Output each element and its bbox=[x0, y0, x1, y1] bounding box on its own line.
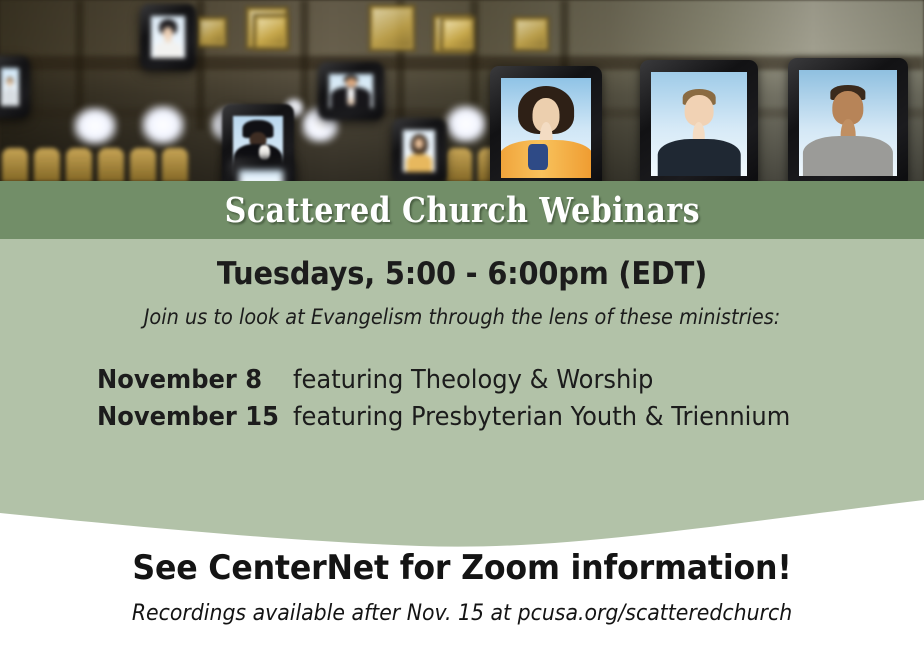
window-glow bbox=[444, 104, 488, 144]
pew-top bbox=[98, 148, 124, 182]
wall-panel bbox=[253, 14, 289, 50]
wall-panel bbox=[440, 16, 476, 52]
tablet-person-left-edge bbox=[0, 56, 30, 118]
pew-top bbox=[2, 148, 28, 182]
poster-title-band: Scattered Church Webinars bbox=[0, 181, 924, 239]
footer-note: Recordings available after Nov. 15 at pc… bbox=[32, 601, 891, 626]
wall-panel bbox=[368, 4, 416, 52]
wall-panel bbox=[196, 16, 228, 48]
pew-top bbox=[446, 148, 472, 182]
tablet-man-suit bbox=[318, 62, 384, 120]
tablet-woman-orange bbox=[490, 66, 602, 182]
page-title: Scattered Church Webinars bbox=[224, 190, 699, 231]
poster-footer: See CenterNet for Zoom information! Reco… bbox=[0, 548, 924, 626]
session-date: November 8 bbox=[97, 365, 279, 395]
pew-top bbox=[66, 148, 92, 182]
wooden-beam bbox=[0, 56, 924, 70]
window-glow bbox=[140, 104, 186, 146]
session-list: November 8 featuring Theology & Worship … bbox=[97, 365, 828, 439]
tablet-man-gray bbox=[788, 58, 908, 182]
church-tablets-banner-image bbox=[0, 0, 924, 182]
tablet-boy bbox=[640, 60, 758, 182]
session-row: November 8 featuring Theology & Worship bbox=[97, 365, 828, 395]
tablet-girl bbox=[392, 118, 446, 182]
window-glow bbox=[72, 106, 118, 146]
webinar-promo-poster: Scattered Church Webinars Tuesdays, 5:00… bbox=[0, 0, 924, 664]
pew-top bbox=[34, 148, 60, 182]
session-row: November 15 featuring Presbyterian Youth… bbox=[97, 402, 828, 432]
tablet-small-bottom bbox=[228, 158, 294, 182]
intro-text: Join us to look at Evangelism through th… bbox=[37, 305, 887, 329]
schedule-text: Tuesdays, 5:00 - 6:00pm (EDT) bbox=[32, 256, 891, 292]
body-content: Tuesdays, 5:00 - 6:00pm (EDT) Join us to… bbox=[0, 239, 924, 439]
pew-top bbox=[130, 148, 156, 182]
wall-panel bbox=[512, 16, 550, 52]
session-description: featuring Theology & Worship bbox=[293, 365, 653, 395]
pew-top bbox=[162, 148, 188, 182]
session-description: featuring Presbyterian Youth & Triennium bbox=[293, 402, 790, 432]
footer-headline: See CenterNet for Zoom information! bbox=[32, 548, 891, 588]
session-date: November 15 bbox=[97, 402, 279, 432]
tablet-woman-headscarf bbox=[140, 4, 196, 70]
